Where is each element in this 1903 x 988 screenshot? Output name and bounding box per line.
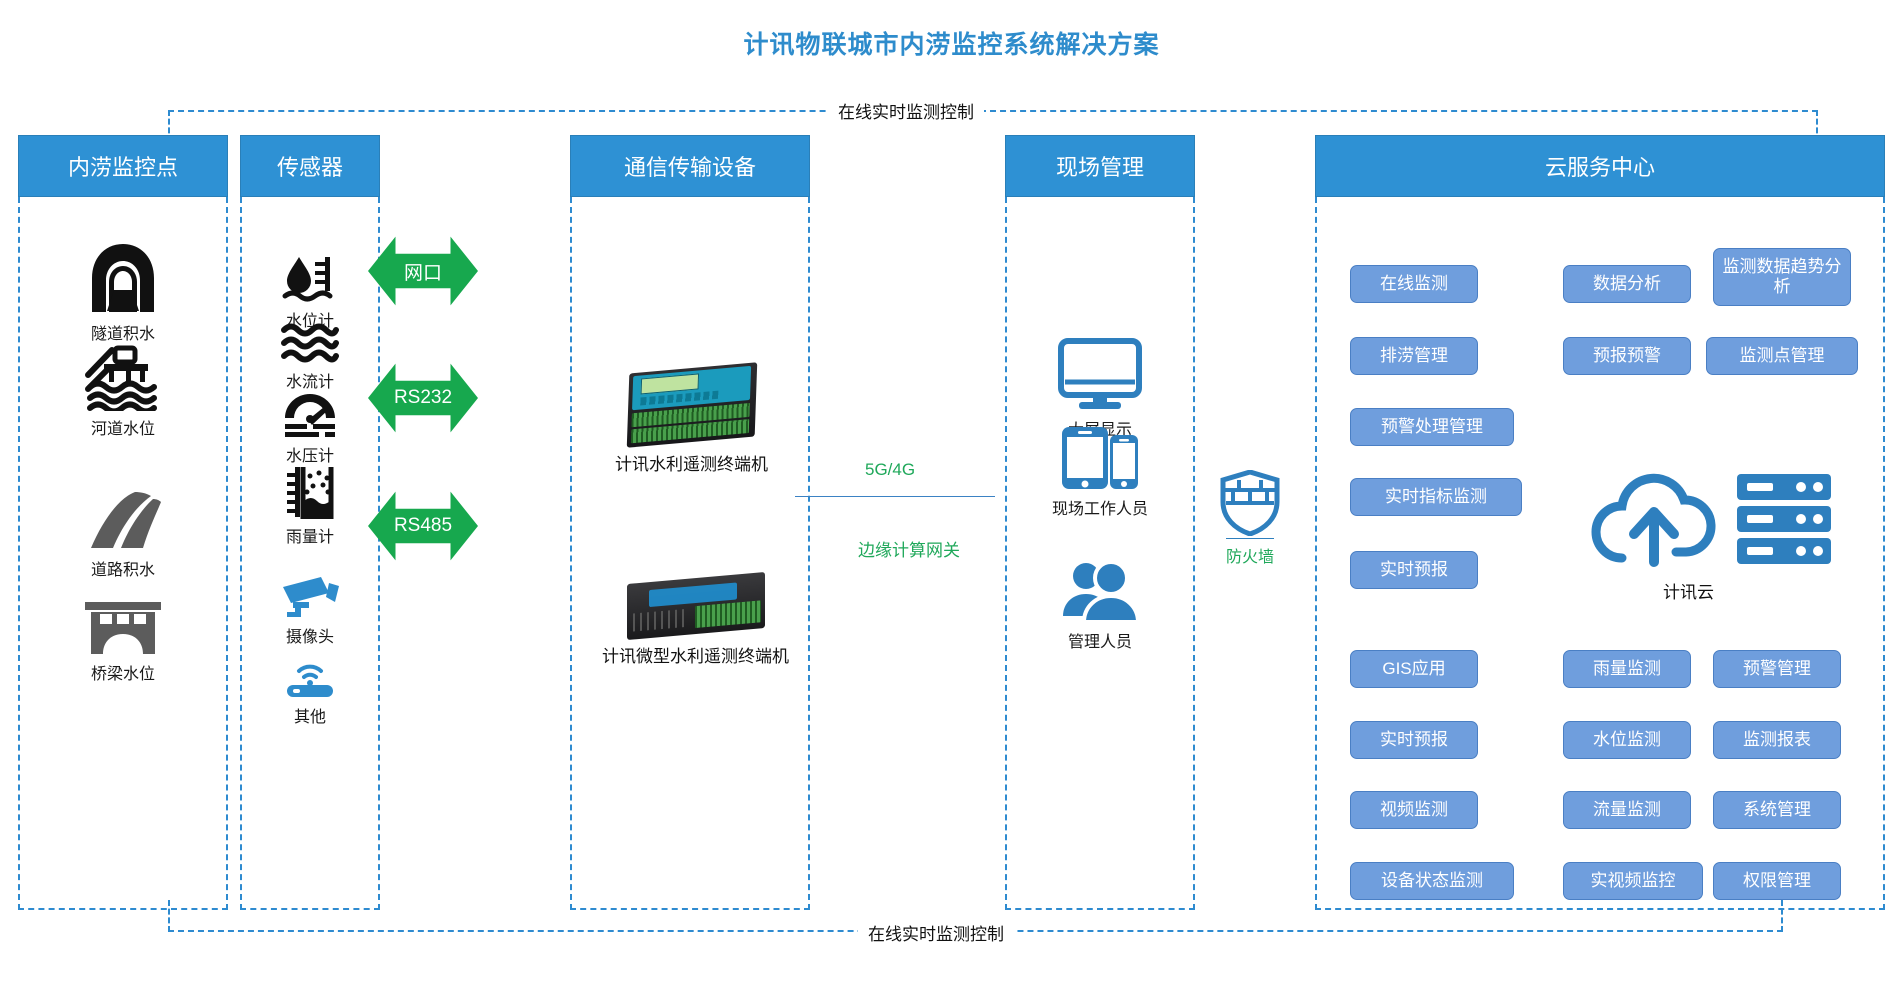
item-label: 河道水位 — [91, 415, 155, 439]
arrow-label: RS232 — [394, 387, 452, 409]
item-firewall: 防火墙 — [1180, 470, 1320, 567]
bridge-icon — [83, 600, 163, 656]
pressure-gauge-icon — [281, 390, 339, 438]
item-tunnel-waterlogging: 隧道积水 — [53, 240, 193, 344]
item-label: 管理人员 — [1068, 628, 1132, 652]
cloud-upload-icon — [1590, 470, 1718, 575]
item-site-staff: 现场工作人员 — [1030, 423, 1170, 519]
column-header-site-management: 现场管理 — [1005, 135, 1195, 197]
bottom-control-band-label: 在线实时监测控制 — [858, 920, 1014, 945]
cloud-tag-alarm-management[interactable]: 预警管理 — [1713, 650, 1841, 688]
device-label: 计讯水利遥测终端机 — [615, 450, 768, 475]
item-label: 其他 — [294, 703, 326, 727]
monitor-icon — [1057, 338, 1143, 412]
item-label: 水流计 — [286, 368, 334, 392]
cloud-tag-monitor-point-management[interactable]: 监测点管理 — [1706, 337, 1858, 375]
firewall-shield-icon — [1219, 470, 1281, 536]
tunnel-icon — [86, 240, 160, 316]
diagram-canvas: 计讯物联城市内涝监控系统解决方案 在线实时监测控制 在线实时监测控制 内涝监控点… — [0, 0, 1903, 988]
cloud-tag-system-management[interactable]: 系统管理 — [1713, 791, 1841, 829]
item-label: 桥梁水位 — [91, 660, 155, 684]
cloud-tag-online-monitoring[interactable]: 在线监测 — [1350, 265, 1478, 303]
camera-icon — [279, 575, 341, 619]
cloud-tag-rainfall-monitoring[interactable]: 雨量监测 — [1563, 650, 1691, 688]
column-header-monitor-points: 内涝监控点 — [18, 135, 228, 197]
mobile-devices-icon — [1060, 423, 1140, 491]
column-header-cloud-center: 云服务中心 — [1315, 135, 1885, 197]
ethernet-arrow: 网口 — [368, 228, 478, 314]
cloud-tag-device-status-monitoring[interactable]: 设备状态监测 — [1350, 862, 1514, 900]
item-label: 现场工作人员 — [1052, 495, 1148, 519]
cloud-tag-live-video-monitoring[interactable]: 实视频监控 — [1563, 862, 1703, 900]
cloud-tag-drainage-management[interactable]: 排涝管理 — [1350, 337, 1478, 375]
water-level-gauge-icon — [281, 255, 339, 303]
device-rtu: 计讯水利遥测终端机 — [615, 368, 768, 475]
cloud-tag-water-level-monitoring[interactable]: 水位监测 — [1563, 721, 1691, 759]
column-header-comm-devices: 通信传输设备 — [570, 135, 810, 197]
arrow-label: 网口 — [404, 258, 442, 285]
cloud-tag-trend-analysis[interactable]: 监测数据趋势分析 — [1713, 248, 1851, 306]
item-road-waterlogging: 道路积水 — [53, 490, 193, 580]
column-frame-site-management — [1005, 197, 1195, 910]
page-title: 计讯物联城市内涝监控系统解决方案 — [0, 25, 1903, 61]
arrow-label: RS485 — [394, 515, 452, 537]
router-icon — [281, 655, 339, 699]
item-label: 雨量计 — [286, 523, 334, 547]
flow-meter-icon — [280, 320, 340, 364]
road-icon — [83, 490, 163, 552]
item-label: 道路积水 — [91, 556, 155, 580]
rs232-arrow: RS232 — [368, 355, 478, 441]
mini-rtu-device-photo — [627, 572, 765, 640]
item-label: 隧道积水 — [91, 320, 155, 344]
item-bridge-level: 桥梁水位 — [53, 600, 193, 684]
cloud-tag-data-analysis[interactable]: 数据分析 — [1563, 265, 1691, 303]
edge-gateway-label: 边缘计算网关 — [858, 536, 960, 561]
item-river-level: 河道水位 — [53, 345, 193, 439]
cloud-tag-realtime-forecast-2[interactable]: 实时预报 — [1350, 721, 1478, 759]
server-rack-icon — [1735, 472, 1833, 573]
top-control-band-label: 在线实时监测控制 — [828, 98, 984, 123]
item-pressure-gauge: 水压计 — [240, 390, 380, 466]
cloud-tag-realtime-forecast-1[interactable]: 实时预报 — [1350, 551, 1478, 589]
item-other: 其他 — [240, 655, 380, 727]
rtu-device-photo — [626, 362, 757, 448]
cloud-tag-gis-application[interactable]: GIS应用 — [1350, 650, 1478, 688]
cloud-tag-permission-management[interactable]: 权限管理 — [1713, 862, 1841, 900]
item-flow-meter: 水流计 — [240, 320, 380, 392]
rs485-arrow: RS485 — [368, 483, 478, 569]
river-level-icon — [82, 345, 164, 411]
item-camera: 摄像头 — [240, 575, 380, 647]
cloud-label: 计讯云 — [1663, 578, 1714, 603]
cloud-tag-monitoring-report[interactable]: 监测报表 — [1713, 721, 1841, 759]
item-label: 摄像头 — [286, 623, 334, 647]
item-label: 防火墙 — [1226, 538, 1274, 567]
cloud-tag-flow-monitoring[interactable]: 流量监测 — [1563, 791, 1691, 829]
link-line — [795, 496, 995, 497]
cloud-tag-video-monitoring[interactable]: 视频监测 — [1350, 791, 1478, 829]
item-managers: 管理人员 — [1030, 560, 1170, 652]
cloud-tag-alarm-processing[interactable]: 预警处理管理 — [1350, 408, 1514, 446]
column-frame-comm-devices — [570, 197, 810, 910]
column-header-sensors: 传感器 — [240, 135, 380, 197]
cloud-tag-realtime-index-monitoring[interactable]: 实时指标监测 — [1350, 478, 1522, 516]
rain-gauge-icon — [281, 465, 339, 519]
users-icon — [1059, 560, 1141, 624]
network-link-label: 5G/4G — [865, 460, 915, 480]
device-label: 计讯微型水利遥测终端机 — [602, 642, 789, 667]
item-label: 水压计 — [286, 442, 334, 466]
cloud-tag-forecast-warning[interactable]: 预报预警 — [1563, 337, 1691, 375]
item-rain-gauge: 雨量计 — [240, 465, 380, 547]
device-mini-rtu: 计讯微型水利遥测终端机 — [602, 578, 789, 667]
